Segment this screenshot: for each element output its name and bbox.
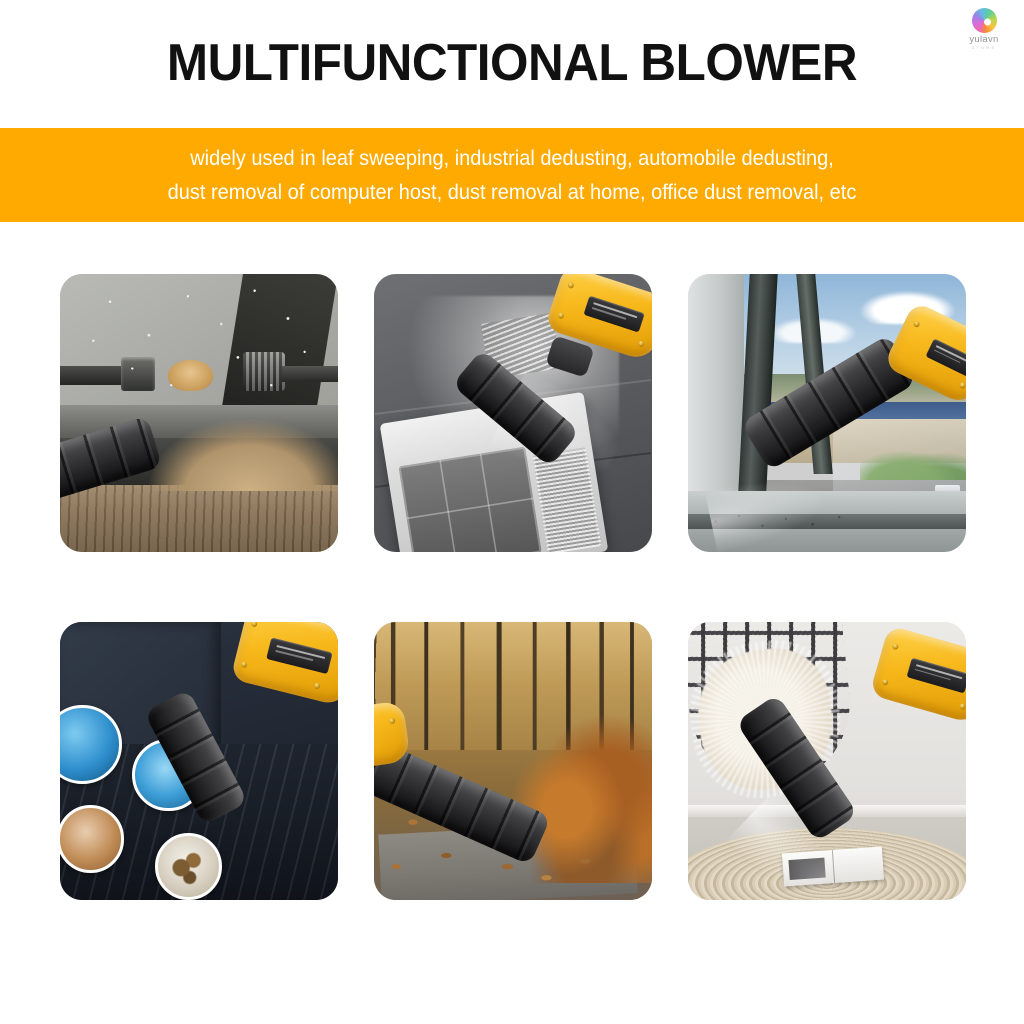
- track-dirt-debris: [699, 508, 866, 536]
- open-magazine: [781, 847, 883, 887]
- banner-line-2: dust removal of computer host, dust remo…: [89, 175, 935, 209]
- gallery-photo-home-interior[interactable]: [688, 622, 966, 900]
- callout-debris: [155, 833, 222, 900]
- screw-icon: [557, 312, 565, 320]
- screw-icon: [892, 642, 899, 649]
- gallery-photo-window-track[interactable]: [688, 274, 966, 552]
- flying-wood-chips: [60, 274, 338, 552]
- blower-spec-label: [266, 638, 332, 674]
- scene-industrial-dedusting: [374, 274, 652, 552]
- scene-autumn-forest: [374, 622, 652, 900]
- banner-line-1: widely used in leaf sweeping, industrial…: [89, 141, 935, 175]
- screw-icon: [958, 382, 966, 390]
- screw-icon: [240, 661, 247, 668]
- screw-icon: [389, 718, 396, 725]
- screw-icon: [251, 622, 258, 628]
- blower-spec-label: [925, 338, 966, 377]
- scene-window-cleaning: [688, 274, 966, 552]
- screw-icon: [638, 339, 646, 347]
- description-banner: widely used in leaf sweeping, industrial…: [0, 128, 1024, 222]
- screw-icon: [913, 321, 921, 329]
- unit-front-panel: [399, 447, 542, 552]
- blower-spec-label: [584, 295, 645, 332]
- colorful-swirl-logo-icon: [972, 8, 997, 33]
- screw-icon: [313, 683, 320, 690]
- blower-spec-label: [907, 657, 966, 693]
- gallery-photo-lathe-sawdust[interactable]: [60, 274, 338, 552]
- scene-car-interior: [60, 622, 338, 900]
- screw-icon: [567, 281, 575, 289]
- page-title: MULTIFUNCTIONAL BLOWER: [26, 36, 999, 91]
- scene-home-interior: [688, 622, 966, 900]
- gallery-photo-autumn-leaves[interactable]: [374, 622, 652, 900]
- callout-pet-hair: [60, 805, 124, 872]
- banner-text-block: widely used in leaf sweeping, industrial…: [89, 141, 935, 209]
- scene-industrial-lathe: [60, 274, 338, 552]
- photo-gallery-grid: [60, 274, 966, 900]
- gallery-photo-industrial-machine[interactable]: [374, 274, 652, 552]
- gallery-photo-car-trunk[interactable]: [60, 622, 338, 900]
- window-frame-left: [688, 274, 744, 502]
- unit-grille: [532, 447, 600, 552]
- screw-icon: [959, 702, 966, 709]
- screw-icon: [881, 678, 888, 685]
